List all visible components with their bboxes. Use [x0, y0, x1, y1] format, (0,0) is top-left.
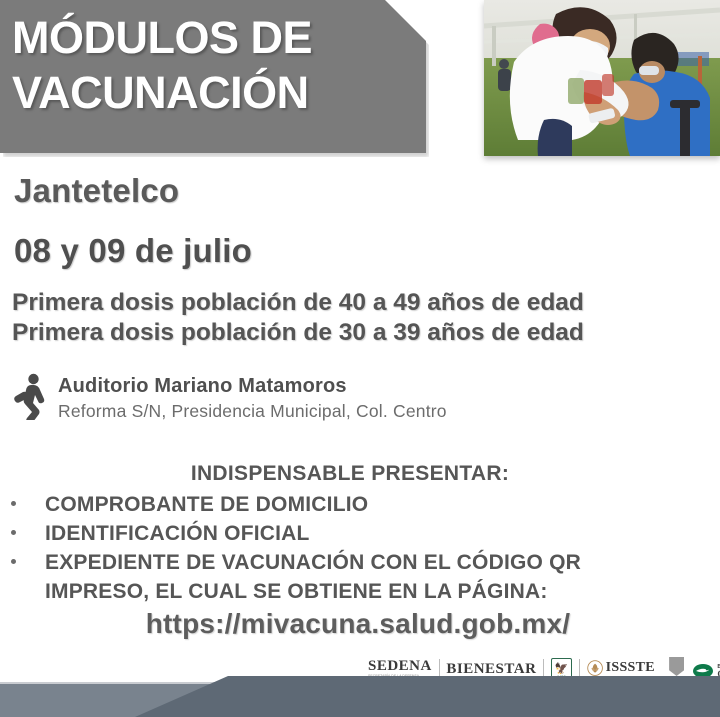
venue-address: Reforma S/N, Presidencia Municipal, Col.… [58, 399, 447, 424]
bullet-icon [11, 530, 16, 535]
banner-title-line-2: VACUNACIÓN [12, 65, 412, 120]
dates-text: 08 y 09 de julio [14, 232, 252, 270]
requirement-item: COMPROBANTE DE DOMICILIO [0, 490, 720, 519]
requirement-text: IDENTIFICACIÓN OFICIAL [45, 522, 310, 545]
vaccination-photo-graphic [484, 0, 720, 156]
dose-lines: Primera dosis población de 40 a 49 años … [12, 288, 712, 348]
venue-block: Auditorio Mariano Matamoros Reforma S/N,… [14, 372, 447, 424]
dose-line-2: Primera dosis población de 30 a 39 años … [12, 318, 712, 348]
logo-sedena-name: SEDENA [368, 658, 432, 674]
town-name: Jantetelco [14, 172, 179, 210]
requirement-item: IDENTIFICACIÓN OFICIAL [0, 519, 720, 548]
dose-line-1: Primera dosis población de 40 a 49 años … [12, 288, 712, 318]
logo-bienestar-name: BIENESTAR [446, 661, 536, 677]
bullet-icon [11, 501, 16, 506]
requirement-text: EXPEDIENTE DE VACUNACIÓN CON EL CÓDIGO Q… [45, 551, 581, 574]
imss-bird-glyph: 🦅 [555, 664, 569, 675]
requirement-item: EXPEDIENTE DE VACUNACIÓN CON EL CÓDIGO Q… [0, 548, 720, 606]
logo-issste-name: ISSSTE [606, 660, 661, 675]
vaccination-url[interactable]: https://mivacuna.salud.gob.mx/ [0, 608, 716, 640]
header-banner: MÓDULOS DE VACUNACIÓN [0, 0, 426, 153]
requirement-text: COMPROBANTE DE DOMICILIO [45, 493, 368, 516]
requirement-continuation: IMPRESO, EL CUAL SE OBTIENE EN LA PÁGINA… [45, 577, 720, 606]
walking-person-icon [14, 372, 48, 420]
requirements-list: COMPROBANTE DE DOMICILIO IDENTIFICACIÓN … [0, 490, 720, 606]
vaccination-photo [484, 0, 720, 156]
venue-texts: Auditorio Mariano Matamoros Reforma S/N,… [58, 372, 447, 424]
venue-name: Auditorio Mariano Matamoros [58, 374, 447, 399]
banner-title-line-1: MÓDULOS DE [12, 10, 412, 65]
bullet-icon [11, 559, 16, 564]
vaccination-poster: MÓDULOS DE VACUNACIÓN [0, 0, 720, 717]
requirements-title: INDISPENSABLE PRESENTAR: [0, 462, 700, 486]
semar-shield-icon [669, 657, 684, 676]
banner-title: MÓDULOS DE VACUNACIÓN [12, 10, 412, 120]
